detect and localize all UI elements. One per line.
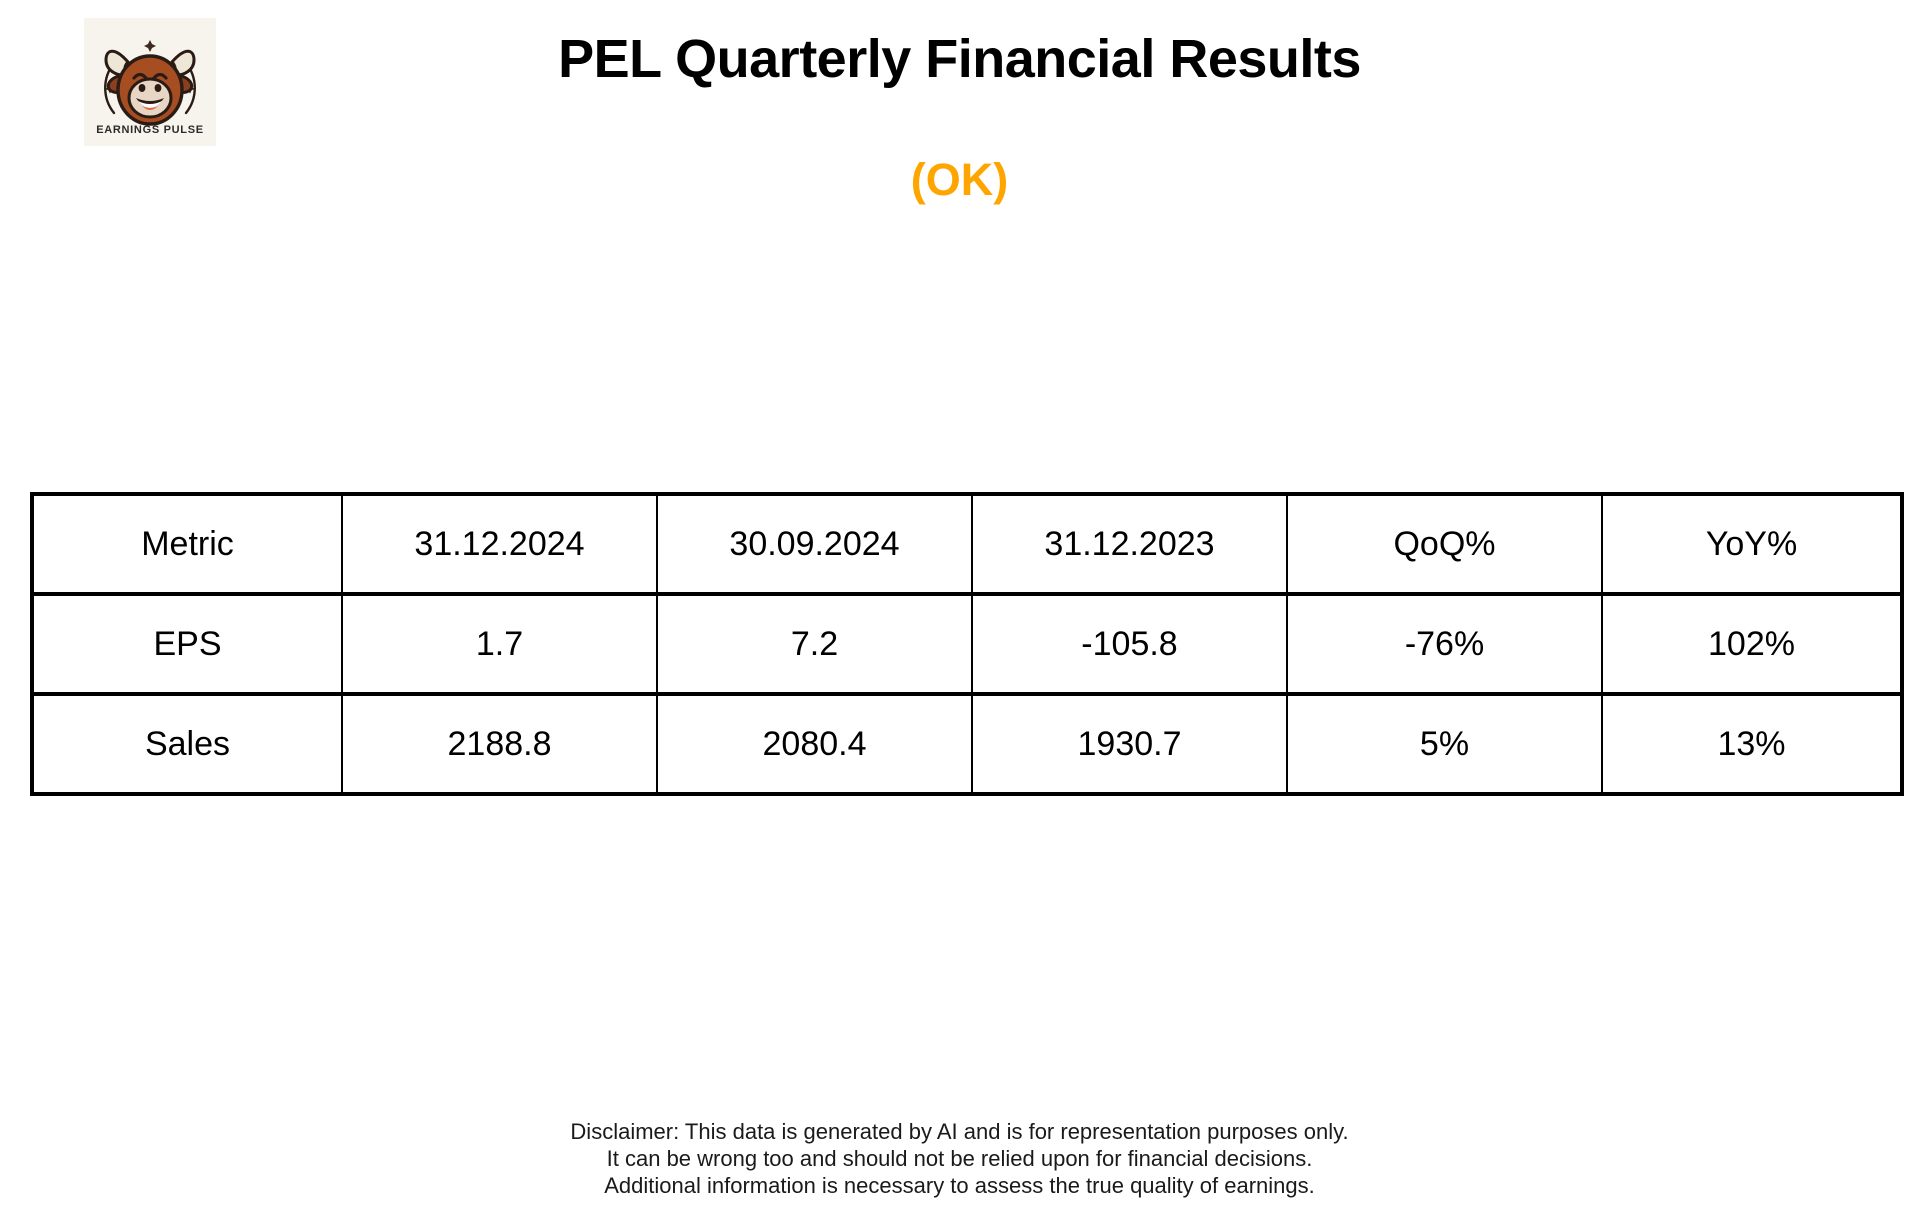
status-badge: (OK) (0, 154, 1919, 206)
column-header-q-year-ago: 31.12.2023 (972, 494, 1287, 594)
cell-metric-name: Sales (32, 694, 342, 794)
disclaimer: Disclaimer: This data is generated by AI… (0, 1118, 1919, 1199)
page-title: PEL Quarterly Financial Results (0, 28, 1919, 90)
logo-caption: EARNINGS PULSE (84, 124, 216, 136)
cell-q-previous: 7.2 (657, 594, 972, 694)
cell-qoq: 5% (1287, 694, 1602, 794)
financial-results-table: Metric 31.12.2024 30.09.2024 31.12.2023 … (30, 492, 1904, 796)
table-row: Sales 2188.8 2080.4 1930.7 5% 13% (32, 694, 1902, 794)
disclaimer-line-1: Disclaimer: This data is generated by AI… (0, 1118, 1919, 1145)
cell-q-current: 2188.8 (342, 694, 657, 794)
financial-results-table-wrapper: Metric 31.12.2024 30.09.2024 31.12.2023 … (30, 492, 1890, 796)
column-header-yoy: YoY% (1602, 494, 1902, 594)
column-header-qoq: QoQ% (1287, 494, 1602, 594)
cell-q-previous: 2080.4 (657, 694, 972, 794)
disclaimer-line-3: Additional information is necessary to a… (0, 1172, 1919, 1199)
cell-q-year-ago: 1930.7 (972, 694, 1287, 794)
table-header-row: Metric 31.12.2024 30.09.2024 31.12.2023 … (32, 494, 1902, 594)
cell-yoy: 102% (1602, 594, 1902, 694)
column-header-q-previous: 30.09.2024 (657, 494, 972, 594)
cell-q-year-ago: -105.8 (972, 594, 1287, 694)
column-header-metric: Metric (32, 494, 342, 594)
cell-qoq: -76% (1287, 594, 1602, 694)
table-row: EPS 1.7 7.2 -105.8 -76% 102% (32, 594, 1902, 694)
cell-metric-name: EPS (32, 594, 342, 694)
cell-yoy: 13% (1602, 694, 1902, 794)
column-header-q-current: 31.12.2024 (342, 494, 657, 594)
cell-q-current: 1.7 (342, 594, 657, 694)
disclaimer-line-2: It can be wrong too and should not be re… (0, 1145, 1919, 1172)
